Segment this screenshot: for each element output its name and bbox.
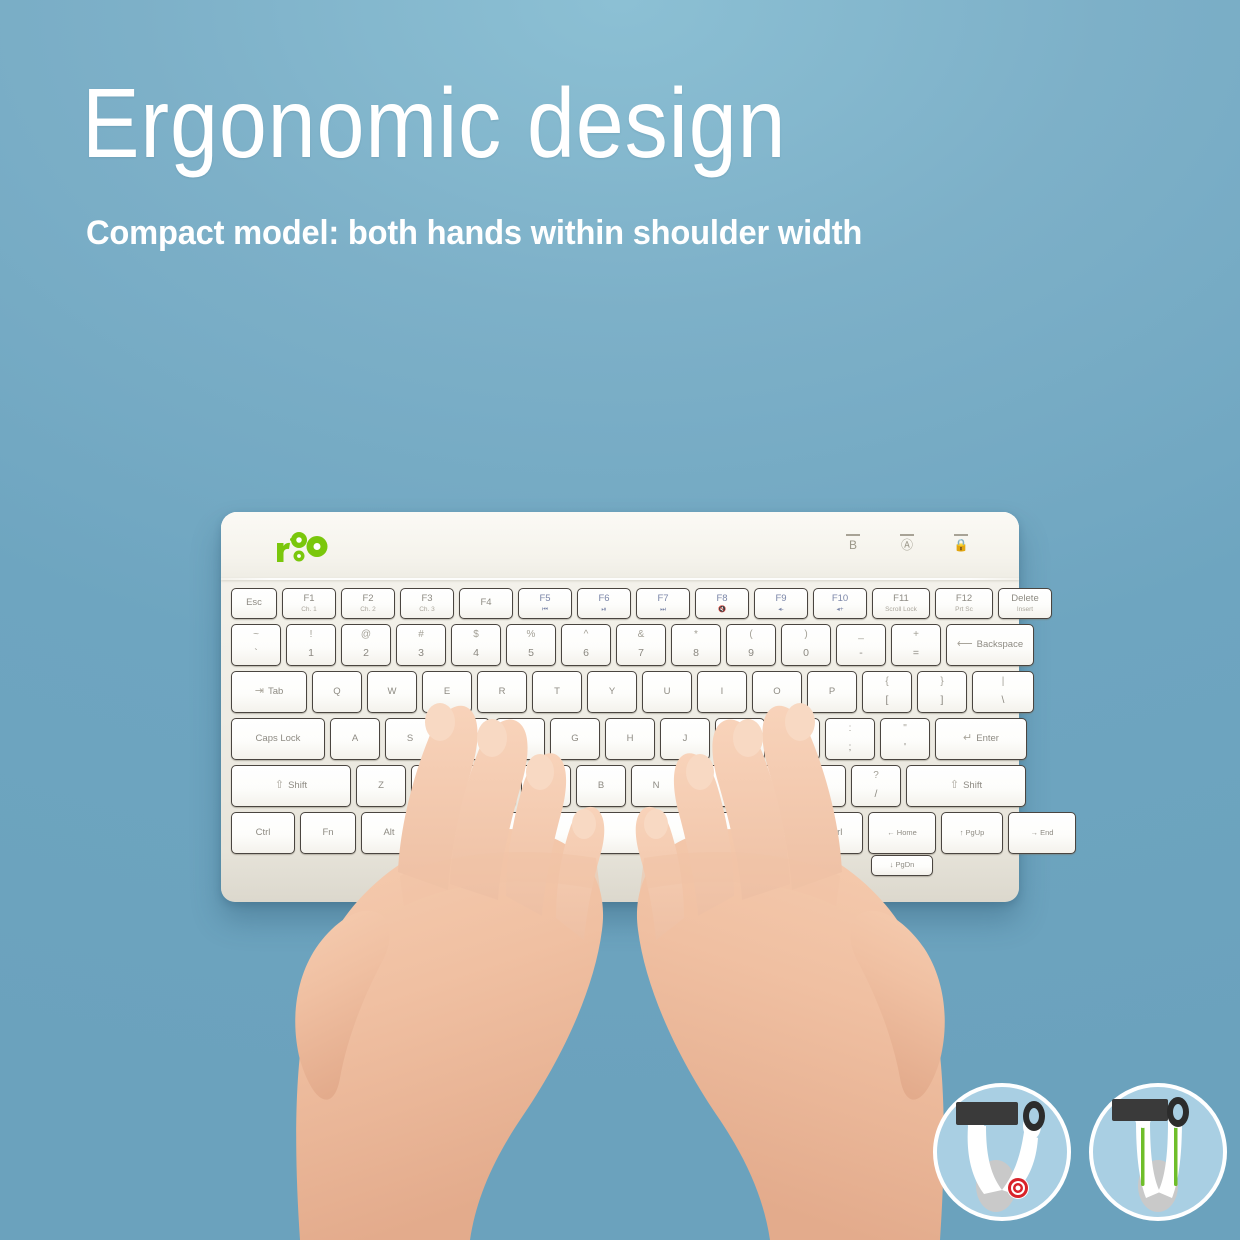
key-legend-lower: -	[859, 648, 863, 659]
keyboard[interactable]: B Ⓐ 🔒 EscF1Ch. 1F2Ch. 2F3Ch. 3F4F5⏮F6⏯F7…	[221, 512, 1019, 902]
key-f6[interactable]: F6⏯	[577, 588, 631, 619]
key-legend-upper: +	[913, 630, 919, 641]
key-ctrl[interactable]: Ctrl	[807, 812, 863, 854]
key-legend-lower: 3	[418, 648, 424, 659]
key-h[interactable]: H	[605, 718, 655, 760]
key-shift[interactable]: ⇧Shift	[906, 765, 1026, 807]
key-[interactable]: >.	[796, 765, 846, 807]
key-legend-lower: 0	[803, 648, 809, 659]
key-[interactable]: {[	[862, 671, 912, 713]
key-b[interactable]: B	[576, 765, 626, 807]
key-legend-upper: %	[527, 630, 536, 641]
key-label: → End	[1031, 829, 1054, 837]
key-legend-upper: <	[763, 771, 769, 782]
key-k[interactable]: K	[715, 718, 765, 760]
key-[interactable]: <,	[741, 765, 791, 807]
key-label: Esc	[246, 598, 262, 608]
num-lock-indicator: 🔒	[951, 534, 971, 551]
key-label: K	[737, 734, 743, 744]
key-u[interactable]: U	[642, 671, 692, 713]
key-[interactable]: ~`	[231, 624, 281, 666]
key-glyph: ⇥	[255, 686, 264, 698]
key-f3[interactable]: F3Ch. 3	[400, 588, 454, 619]
key-j[interactable]: J	[660, 718, 710, 760]
key-label: I	[721, 687, 724, 697]
key-home[interactable]: ← Home	[868, 812, 936, 854]
key-legend-lower: 4	[473, 648, 479, 659]
key-legend-upper: {	[885, 677, 888, 688]
key-s[interactable]: S	[385, 718, 435, 760]
key-t[interactable]: T	[532, 671, 582, 713]
key-l[interactable]: L	[770, 718, 820, 760]
key-f4[interactable]: F4	[459, 588, 513, 619]
key-label: M	[707, 781, 715, 791]
key-r[interactable]: R	[477, 671, 527, 713]
key-label: ↑ PgUp	[960, 829, 985, 837]
key-legend-lower: 5	[528, 648, 534, 659]
key-sublabel: Ch. 1	[301, 606, 317, 613]
key-label: F12	[956, 594, 972, 604]
space-key[interactable]	[483, 812, 741, 854]
caps-lock-indicator: Ⓐ	[897, 534, 917, 551]
key-i[interactable]: I	[697, 671, 747, 713]
key-legend-lower: ]	[941, 695, 944, 706]
key-label: C	[488, 781, 495, 791]
key-f8[interactable]: F8🔇	[695, 588, 749, 619]
key-sublabel: ◂+	[836, 606, 843, 613]
key-p[interactable]: P	[807, 671, 857, 713]
bottom-row: CtrlFnAlt⌘AltCtrl← Home↑ PgUp→ End↓ PgDn	[231, 812, 1009, 854]
key-label: Tab	[268, 687, 283, 697]
key-label: Y	[609, 687, 615, 697]
rgo-logo	[275, 530, 331, 564]
key-e[interactable]: E	[422, 671, 472, 713]
key-label: Delete	[1011, 594, 1038, 604]
key-1[interactable]: !1	[286, 624, 336, 666]
number-row: ~`!1@2#3$4%5^6&7*8(9)0_-+=⟵Backspace	[231, 624, 1009, 666]
key-sublabel: ⏭	[660, 606, 666, 613]
key-label: Ctrl	[828, 828, 843, 838]
key-legend-lower: /	[875, 789, 878, 800]
key-sublabel: ◂-	[778, 606, 783, 613]
key-alt[interactable]: Alt	[361, 812, 417, 854]
key-2[interactable]: @2	[341, 624, 391, 666]
key-d[interactable]: D	[440, 718, 490, 760]
key-[interactable]: ?/	[851, 765, 901, 807]
key-glyph: ⇧	[275, 780, 284, 792]
key-y[interactable]: Y	[587, 671, 637, 713]
key-legend-upper: ~	[253, 630, 259, 641]
key-legend-upper: }	[940, 677, 943, 688]
key-f7[interactable]: F7⏭	[636, 588, 690, 619]
key-z[interactable]: Z	[356, 765, 406, 807]
key-label: F6	[598, 594, 609, 604]
key-[interactable]: +=	[891, 624, 941, 666]
key-label: Q	[333, 687, 340, 697]
posture-bad-badge[interactable]	[932, 1082, 1072, 1222]
key-sublabel: Prt Sc	[955, 606, 973, 613]
key-shift[interactable]: ⇧Shift	[231, 765, 351, 807]
key-legend-upper: ?	[873, 771, 879, 782]
key-label: G	[571, 734, 578, 744]
key-legend-lower: 7	[638, 648, 644, 659]
key-label: ← Home	[887, 829, 917, 837]
key-enter[interactable]: ↵Enter	[935, 718, 1027, 760]
key-c[interactable]: C	[466, 765, 516, 807]
key-f[interactable]: F	[495, 718, 545, 760]
key-5[interactable]: %5	[506, 624, 556, 666]
key-legend-upper: @	[361, 630, 371, 641]
key-label: Alt	[768, 828, 779, 838]
key-f1[interactable]: F1Ch. 1	[282, 588, 336, 619]
page-title: Ergonomic design	[82, 72, 786, 175]
key-label: T	[554, 687, 560, 697]
key-8[interactable]: *8	[671, 624, 721, 666]
key-tab[interactable]: ⇥Tab	[231, 671, 307, 713]
key-label: ⌘	[445, 828, 455, 838]
key-label: D	[462, 734, 469, 744]
key-9[interactable]: (9	[726, 624, 776, 666]
key-label: P	[829, 687, 835, 697]
key-label: H	[627, 734, 634, 744]
key-legend-upper: _	[858, 630, 864, 641]
posture-good-badge[interactable]	[1088, 1082, 1228, 1222]
key-legend-lower: =	[913, 648, 919, 659]
key-legend-lower: [	[886, 695, 889, 706]
key-label: B	[598, 781, 604, 791]
key-f10[interactable]: F10◂+	[813, 588, 867, 619]
key-sublabel: Ch. 3	[419, 606, 435, 613]
key-legend-lower: `	[254, 648, 258, 659]
key-[interactable]: ⌘	[422, 812, 478, 854]
key-legend-upper: )	[804, 630, 807, 641]
key-label: Backspace	[977, 640, 1023, 650]
key-label: Shift	[963, 781, 982, 791]
key-backspace[interactable]: ⟵Backspace	[946, 624, 1034, 666]
key-x[interactable]: X	[411, 765, 461, 807]
key-[interactable]: :;	[825, 718, 875, 760]
key-label: Z	[378, 781, 384, 791]
key-sublabel: Insert	[1017, 606, 1033, 613]
key-label: F2	[362, 594, 373, 604]
key-label: W	[388, 687, 397, 697]
key-label: F8	[716, 594, 727, 604]
shift-row: ⇧ShiftZXCVBNM<,>.?/⇧Shift	[231, 765, 1009, 807]
key-label: F7	[657, 594, 668, 604]
key-label: ↓ PgDn	[890, 861, 915, 869]
key-[interactable]: |\	[972, 671, 1034, 713]
key-label: Fn	[322, 828, 333, 838]
key-legend-lower: ,	[765, 789, 768, 800]
key-legend-lower: 2	[363, 648, 369, 659]
key-3[interactable]: #3	[396, 624, 446, 666]
key-label: F9	[775, 594, 786, 604]
key-q[interactable]: Q	[312, 671, 362, 713]
key-label: E	[444, 687, 450, 697]
key-label: N	[653, 781, 660, 791]
key-fn[interactable]: Fn	[300, 812, 356, 854]
key-label: O	[773, 687, 780, 697]
key-f2[interactable]: F2Ch. 2	[341, 588, 395, 619]
key-label: L	[792, 734, 797, 744]
key-label: J	[683, 734, 688, 744]
key-legend-lower: .	[820, 789, 823, 800]
key-delete[interactable]: DeleteInsert	[998, 588, 1052, 619]
key-label: F1	[303, 594, 314, 604]
key-label: Shift	[288, 781, 307, 791]
key-label: F3	[421, 594, 432, 604]
key-7[interactable]: &7	[616, 624, 666, 666]
key-0[interactable]: )0	[781, 624, 831, 666]
promo-slide: Ergonomic design Compact model: both han…	[0, 0, 1240, 1240]
key-legend-upper: ^	[584, 630, 589, 641]
key-down-pgdn[interactable]: ↓ PgDn	[871, 855, 933, 876]
key-o[interactable]: O	[752, 671, 802, 713]
key-v[interactable]: V	[521, 765, 571, 807]
key-caps-lock[interactable]: Caps Lock	[231, 718, 325, 760]
page-subtitle: Compact model: both hands within shoulde…	[86, 214, 862, 253]
key-4[interactable]: $4	[451, 624, 501, 666]
home-row: Caps LockASDFGHJKL:;"'↵Enter	[231, 718, 1009, 760]
qwerty-row: ⇥TabQWERTYUIOP{[}]|\	[231, 671, 1009, 713]
key-sublabel: 🔇	[718, 606, 726, 613]
key-sublabel: ⏯	[601, 606, 606, 613]
key-m[interactable]: M	[686, 765, 736, 807]
key-glyph: ⟵	[957, 639, 973, 651]
key-legend-upper: (	[749, 630, 752, 641]
key-label: U	[664, 687, 671, 697]
key-glyph: ↵	[963, 733, 972, 745]
key-legend-lower: ;	[849, 742, 852, 753]
key-label: Ctrl	[256, 828, 271, 838]
key-rows: EscF1Ch. 1F2Ch. 2F3Ch. 3F4F5⏮F6⏯F7⏭F8🔇F9…	[231, 588, 1009, 859]
key-label: F	[517, 734, 523, 744]
key-6[interactable]: ^6	[561, 624, 611, 666]
key-pgup[interactable]: ↑ PgUp	[941, 812, 1003, 854]
key-legend-upper: #	[418, 630, 424, 641]
status-indicators: B Ⓐ 🔒	[843, 534, 971, 551]
key-legend-lower: 8	[693, 648, 699, 659]
key-f12[interactable]: F12Prt Sc	[935, 588, 993, 619]
key-legend-lower: 9	[748, 648, 754, 659]
key-legend-upper: *	[694, 630, 698, 641]
function-row: EscF1Ch. 1F2Ch. 2F3Ch. 3F4F5⏮F6⏯F7⏭F8🔇F9…	[231, 588, 1009, 619]
key-legend-upper: >	[818, 771, 824, 782]
key-legend-upper: $	[473, 630, 479, 641]
key-legend-lower: 1	[308, 648, 314, 659]
key-sublabel: Ch. 2	[360, 606, 376, 613]
key-alt[interactable]: Alt	[746, 812, 802, 854]
key-label: F10	[832, 594, 848, 604]
key-end[interactable]: → End	[1008, 812, 1076, 854]
key-ctrl[interactable]: Ctrl	[231, 812, 295, 854]
key-legend-upper: "	[903, 724, 907, 735]
key-legend-upper: :	[849, 724, 852, 735]
key-label: X	[433, 781, 439, 791]
key-g[interactable]: G	[550, 718, 600, 760]
key-legend-upper: &	[638, 630, 645, 641]
key-label: S	[407, 734, 413, 744]
key-label: F5	[539, 594, 550, 604]
key-legend-lower: 6	[583, 648, 589, 659]
key-f11[interactable]: F11Scroll Lock	[872, 588, 930, 619]
key-label: V	[543, 781, 549, 791]
key-sublabel: Scroll Lock	[885, 606, 917, 613]
bluetooth-indicator: B	[843, 534, 863, 551]
key-a[interactable]: A	[330, 718, 380, 760]
key-[interactable]: _-	[836, 624, 886, 666]
key-label: Alt	[383, 828, 394, 838]
key-[interactable]: "'	[880, 718, 930, 760]
key-label: R	[499, 687, 506, 697]
key-label: F4	[480, 598, 491, 608]
key-sublabel: ⏮	[542, 606, 548, 613]
key-label: A	[352, 734, 358, 744]
key-legend-upper: |	[1002, 677, 1005, 688]
key-glyph: ⇧	[950, 780, 959, 792]
key-f9[interactable]: F9◂-	[754, 588, 808, 619]
key-legend-upper: !	[310, 630, 313, 641]
key-legend-lower: '	[904, 742, 906, 753]
key-n[interactable]: N	[631, 765, 681, 807]
key-f5[interactable]: F5⏮	[518, 588, 572, 619]
key-esc[interactable]: Esc	[231, 588, 277, 619]
key-[interactable]: }]	[917, 671, 967, 713]
posture-badges	[932, 1082, 1228, 1222]
key-legend-lower: \	[1002, 695, 1005, 706]
key-w[interactable]: W	[367, 671, 417, 713]
key-label: Enter	[976, 734, 999, 744]
key-label: Caps Lock	[256, 734, 301, 744]
key-label: F11	[893, 594, 909, 604]
